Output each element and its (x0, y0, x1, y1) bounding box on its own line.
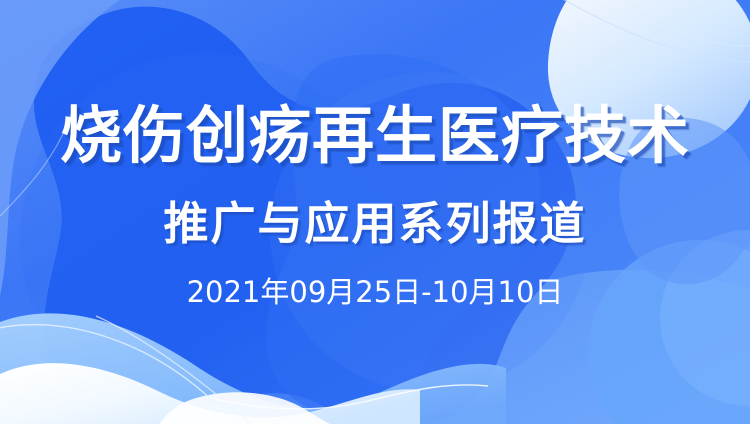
page-subtitle: 推广与应用系列报道 (0, 197, 750, 251)
promo-banner: 烧伤创疡再生医疗技术 推广与应用系列报道 2021年09月25日-10月10日 (0, 0, 750, 424)
date-range-label: 2021年09月25日-10月10日 (0, 274, 750, 310)
banner-text-layer: 烧伤创疡再生医疗技术 推广与应用系列报道 2021年09月25日-10月10日 (0, 0, 750, 424)
page-title: 烧伤创疡再生医疗技术 (0, 100, 750, 172)
